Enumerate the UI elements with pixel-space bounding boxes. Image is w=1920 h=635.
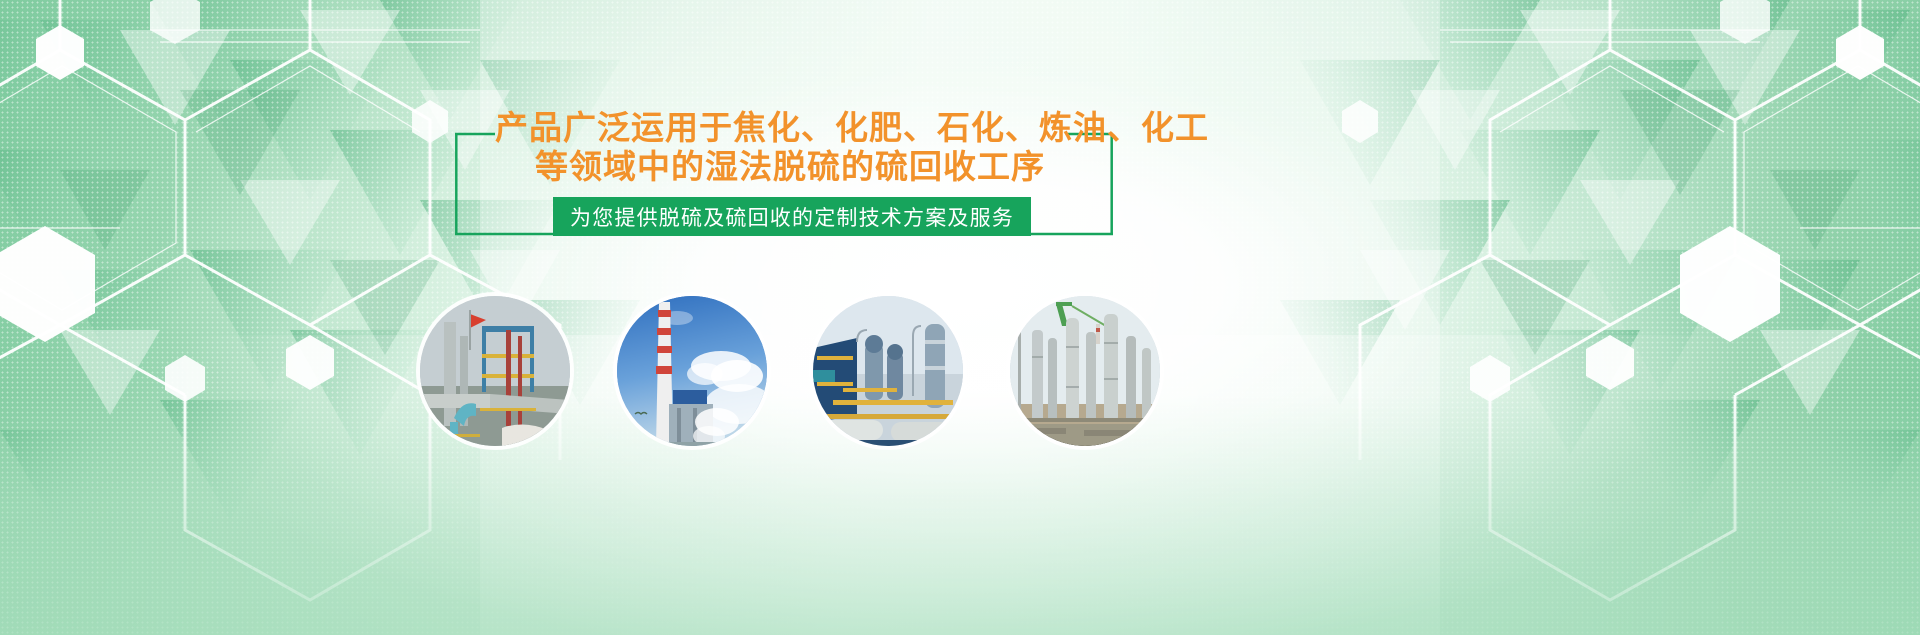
banner-content: 产品广泛运用于焦化、化肥、石化、炼油、化工 等领域中的湿法脱硫的硫回收工序 为您… xyxy=(0,0,1920,635)
headline: 产品广泛运用于焦化、化肥、石化、炼油、化工 等领域中的湿法脱硫的硫回收工序 xyxy=(495,108,1085,186)
photo-chimney-stack-blue-sky xyxy=(617,296,767,446)
photo-sulfur-recovery-unit xyxy=(813,296,963,446)
photo-desulfurization-piping-plant xyxy=(420,296,570,446)
subtitle-text: 为您提供脱硫及硫回收的定制技术方案及服务 xyxy=(570,202,1014,232)
subtitle-bar: 为您提供脱硫及硫回收的定制技术方案及服务 xyxy=(553,197,1031,236)
photo-refinery-distillation-columns xyxy=(1010,296,1160,446)
headline-line-2: 等领域中的湿法脱硫的硫回收工序 xyxy=(495,147,1085,186)
headline-line-1: 产品广泛运用于焦化、化肥、石化、炼油、化工 xyxy=(495,108,1085,147)
photo-circle-row xyxy=(420,296,1160,446)
hero-banner: 产品广泛运用于焦化、化肥、石化、炼油、化工 等领域中的湿法脱硫的硫回收工序 为您… xyxy=(0,0,1920,635)
